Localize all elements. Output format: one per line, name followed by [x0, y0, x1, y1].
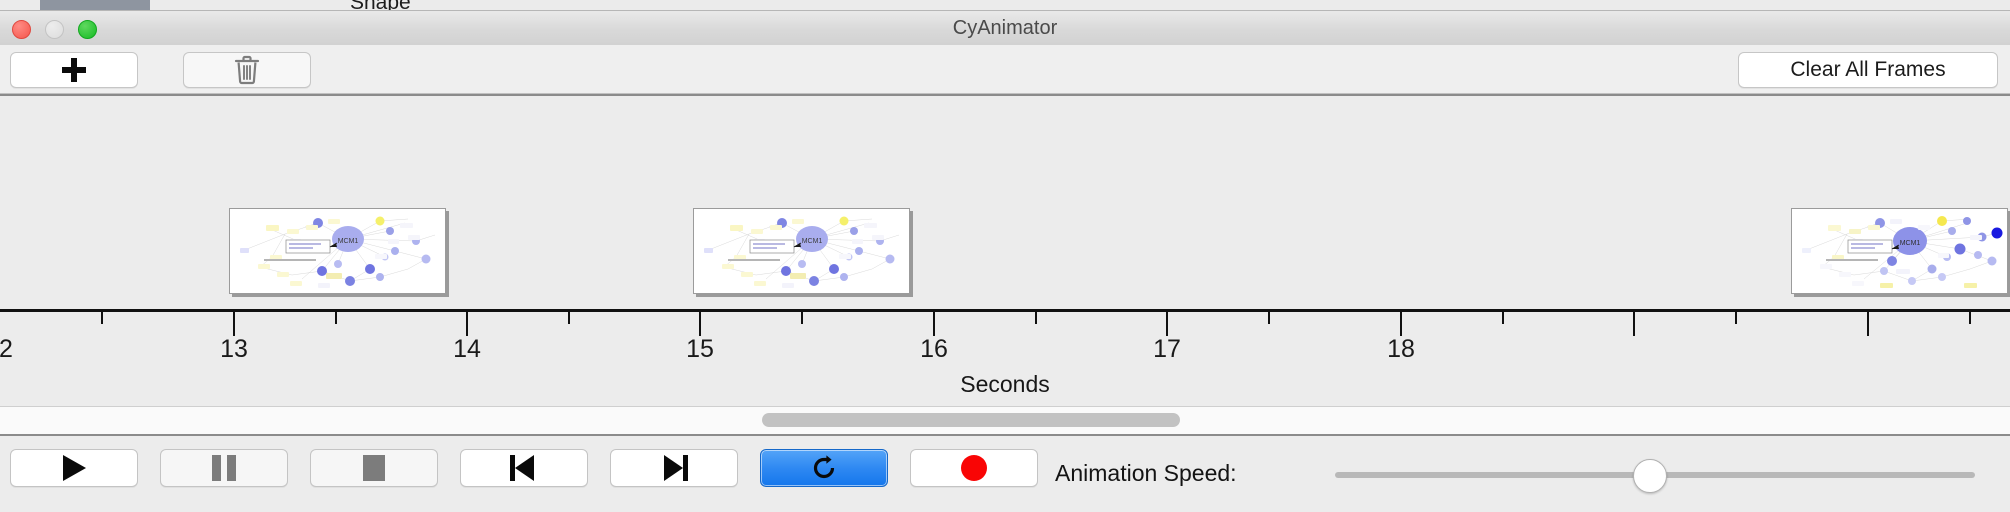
axis-major-tick [466, 312, 468, 336]
trash-icon [234, 55, 260, 85]
network-thumbnail-3: MCM1 [1792, 209, 2007, 293]
axis-major-tick [933, 312, 935, 336]
axis-major-tick [1633, 312, 1635, 336]
axis-tick-label: 15 [686, 335, 714, 364]
axis-tick-label: 18 [1387, 335, 1415, 364]
axis-major-tick [233, 312, 235, 336]
skip-back-icon [510, 455, 538, 481]
timeline-frame-2[interactable]: MCM1 [693, 208, 910, 294]
pause-icon [212, 455, 236, 481]
background-window-strip: Shape [0, 0, 2010, 11]
clear-all-frames-label: Clear All Frames [1790, 58, 1945, 82]
axis-minor-tick [1035, 312, 1037, 324]
animation-speed-label: Animation Speed: [1055, 460, 1237, 487]
loop-button[interactable] [760, 449, 888, 487]
axis-minor-tick [1735, 312, 1737, 324]
axis-minor-tick [801, 312, 803, 324]
record-icon [961, 455, 987, 481]
play-button[interactable] [10, 449, 138, 487]
play-icon [63, 455, 86, 481]
cyanimator-window: Shape CyAnimator Clear All Frames [0, 0, 2010, 510]
axis-major-tick [1867, 312, 1869, 336]
axis-minor-tick [335, 312, 337, 324]
animation-speed-slider[interactable] [1335, 472, 1975, 478]
axis-major-tick [699, 312, 701, 336]
timeline-scrollbar[interactable] [0, 406, 2010, 436]
plus-icon [62, 58, 86, 82]
pause-button[interactable] [160, 449, 288, 487]
frame-strip: MCM1 [0, 96, 2010, 308]
skip-forward-icon [660, 455, 688, 481]
axis-minor-tick [1268, 312, 1270, 324]
stop-button[interactable] [310, 449, 438, 487]
axis-tick-label: 17 [1153, 335, 1181, 364]
axis-unit-label: Seconds [0, 371, 2010, 398]
network-thumbnail-2: MCM1 [694, 209, 909, 293]
axis-minor-tick [568, 312, 570, 324]
scrollbar-thumb[interactable] [762, 413, 1180, 427]
timeline-frame-3[interactable]: MCM1 [1791, 208, 2008, 294]
window-title: CyAnimator [0, 11, 2010, 45]
playback-controls: Animation Speed: [0, 434, 2010, 512]
axis-tick-label: 2 [0, 335, 13, 364]
previous-frame-button[interactable] [460, 449, 588, 487]
next-frame-button[interactable] [610, 449, 738, 487]
timeline-frame-1[interactable]: MCM1 [229, 208, 446, 294]
slider-thumb[interactable] [1633, 459, 1667, 493]
axis-minor-tick [101, 312, 103, 324]
stop-icon [363, 455, 385, 481]
svg-text:MCM1: MCM1 [802, 238, 823, 245]
loop-icon [810, 454, 838, 482]
axis-major-tick [1166, 312, 1168, 336]
toolbar: Clear All Frames [0, 45, 2010, 94]
svg-text:MCM1: MCM1 [1900, 240, 1921, 247]
axis-tick-label: 16 [920, 335, 948, 364]
network-thumbnail-1: MCM1 [230, 209, 445, 293]
axis-tick-label: 13 [220, 335, 248, 364]
axis-tick-label: 14 [453, 335, 481, 364]
delete-frame-button[interactable] [183, 52, 311, 88]
add-frame-button[interactable] [10, 52, 138, 88]
svg-text:MCM1: MCM1 [338, 238, 359, 245]
axis-minor-tick [1502, 312, 1504, 324]
scrollbar-track[interactable] [0, 407, 2010, 433]
timeline-panel[interactable]: MCM1 [0, 94, 2010, 408]
axis-minor-tick [1969, 312, 1971, 324]
clear-all-frames-button[interactable]: Clear All Frames [1738, 52, 1998, 88]
axis-major-tick [1400, 312, 1402, 336]
axis-line [0, 309, 2010, 312]
record-button[interactable] [910, 449, 1038, 487]
timeline-axis[interactable]: 2 13 14 15 16 17 18 Seconds [0, 309, 2010, 408]
title-bar: CyAnimator [0, 11, 2010, 46]
